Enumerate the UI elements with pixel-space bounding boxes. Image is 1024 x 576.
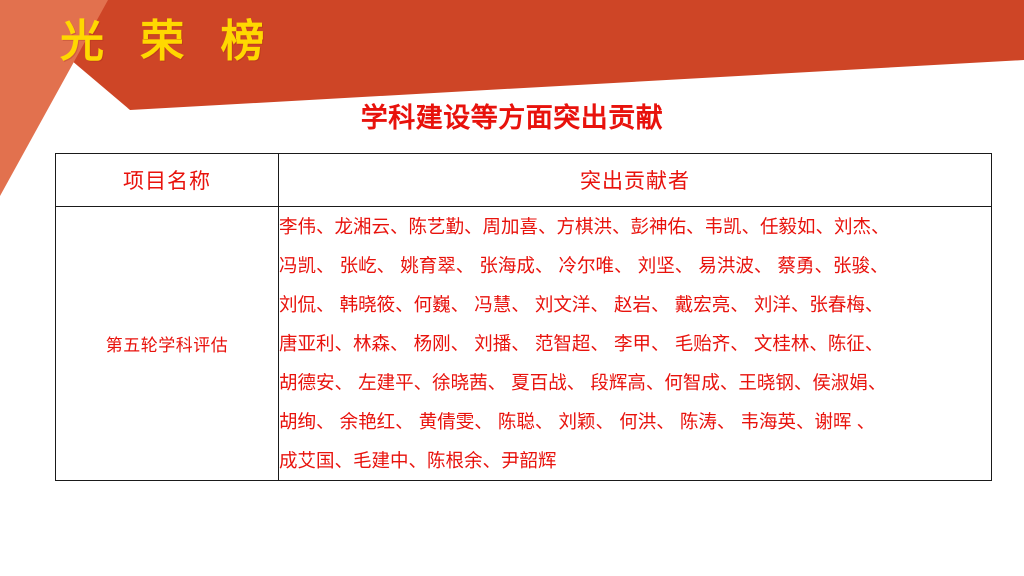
- contributor-line: 胡德安、 左建平、徐晓茜、 夏百战、 段辉高、何智成、王晓钢、侯淑娟、: [279, 363, 991, 402]
- cell-project-name: 第五轮学科评估: [56, 207, 279, 481]
- contributor-line: 刘侃、 韩晓筱、何巍、 冯慧、 刘文洋、 赵岩、 戴宏亮、 刘洋、张春梅、: [279, 285, 991, 324]
- cell-contributors: 李伟、龙湘云、陈艺勤、周加喜、方棋洪、彭神佑、韦凯、任毅如、刘杰、 冯凯、 张屹…: [279, 207, 992, 481]
- contributor-line: 唐亚利、林森、 杨刚、 刘播、 范智超、 李甲、 毛贻齐、 文桂林、陈征、: [279, 324, 991, 363]
- honor-roll-table: 项目名称 突出贡献者 第五轮学科评估 李伟、龙湘云、陈艺勤、周加喜、方棋洪、彭神…: [55, 153, 992, 481]
- column-header-project-name: 项目名称: [56, 154, 279, 207]
- section-subtitle: 学科建设等方面突出贡献: [0, 96, 1024, 135]
- table-header-row: 项目名称 突出贡献者: [56, 154, 992, 207]
- contributor-line: 成艾国、毛建中、陈根余、尹韶辉: [279, 441, 991, 480]
- column-header-contributors: 突出贡献者: [279, 154, 992, 207]
- table-row: 第五轮学科评估 李伟、龙湘云、陈艺勤、周加喜、方棋洪、彭神佑、韦凯、任毅如、刘杰…: [56, 207, 992, 481]
- page-title: 光 荣 榜: [60, 17, 276, 68]
- contributor-line: 李伟、龙湘云、陈艺勤、周加喜、方棋洪、彭神佑、韦凯、任毅如、刘杰、: [279, 207, 991, 246]
- contributor-line: 胡绚、 余艳红、 黄倩雯、 陈聪、 刘颖、 何洪、 陈涛、 韦海英、谢晖 、: [279, 402, 991, 441]
- slide-canvas: 光 荣 榜 学科建设等方面突出贡献 项目名称 突出贡献者 第五轮学科评估 李伟、…: [0, 0, 1024, 576]
- contributor-line: 冯凯、 张屹、 姚育翠、 张海成、 冷尔唯、 刘坚、 易洪波、 蔡勇、张骏、: [279, 246, 991, 285]
